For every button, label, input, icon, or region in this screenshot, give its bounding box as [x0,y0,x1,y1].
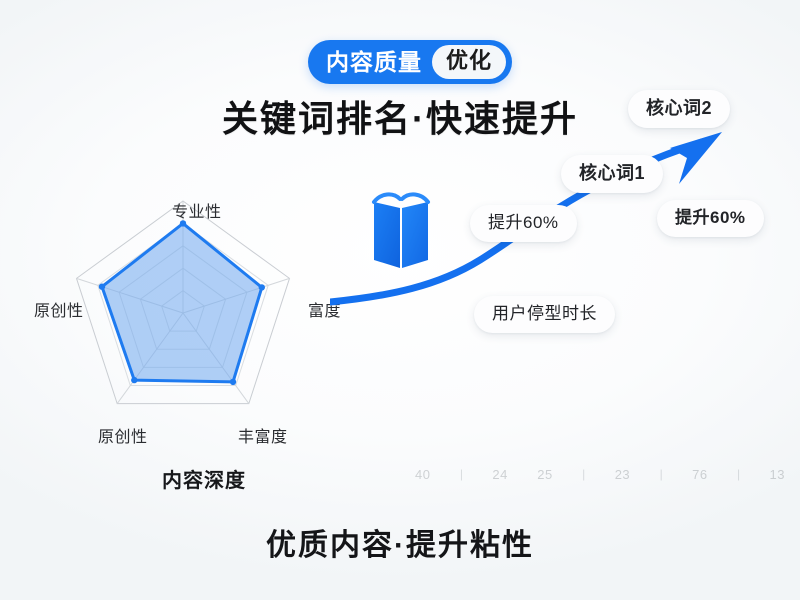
axis-tick-value: 25 [537,467,552,482]
axis-tick-mark: | [582,467,585,481]
radar-chart: 专业性 富度 丰富度 原创性 原创性 [20,185,380,465]
radar-vertex [131,377,137,383]
pill-uplift-left[interactable]: 提升60% [470,205,577,242]
pill-keyword-2[interactable]: 核心词2 [628,90,730,128]
radar-vertex [230,379,236,385]
poster-canvas: 内容质量 优化 关键词排名·快速提升 专业性 富度 丰富度 原创性 原创性 内容… [0,0,800,600]
axis-tick-value: 40 [415,467,430,482]
radar-label-top: 专业性 [172,198,222,222]
axis-tick-value: 24 [492,467,507,482]
radar-label-bottom-left: 原创性 [98,423,148,447]
axis-tick-row: 40|2425|23|76|13 [415,462,785,486]
pill-uplift-right[interactable]: 提升60% [657,200,764,237]
axis-tick-value: 13 [770,467,785,482]
footer-title: 优质内容·提升粘性 [0,520,800,564]
radar-vertex [259,284,265,290]
content-quality-badge: 内容质量 优化 [308,40,512,84]
badge-main-label: 内容质量 [326,51,432,74]
axis-tick-mark: | [460,467,463,481]
pill-dwell-time[interactable]: 用户停型时长 [474,296,615,333]
axis-tick-value: 23 [615,467,630,482]
axis-tick-value: 76 [692,467,707,482]
axis-tick-mark: | [737,467,740,481]
radar-data-area [102,223,262,382]
radar-label-bottom-right: 丰富度 [238,423,288,447]
axis-tick-mark: | [660,467,663,481]
radar-vertex [99,284,105,290]
badge-chip-label: 优化 [432,45,506,79]
radar-chart-svg [20,185,380,465]
content-depth-label: 内容深度 [162,464,246,493]
pill-keyword-1[interactable]: 核心词1 [561,155,663,193]
radar-label-left: 原创性 [34,297,84,321]
